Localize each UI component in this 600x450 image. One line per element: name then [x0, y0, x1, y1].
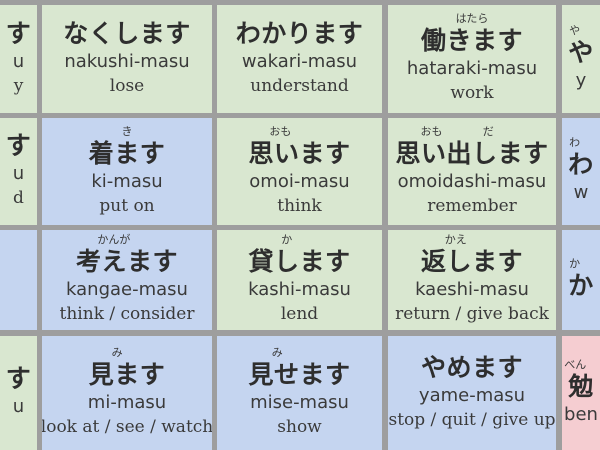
japanese-word: 貸します — [248, 247, 350, 277]
vocab-cell[interactable]: すu — [0, 336, 37, 450]
vocab-cell[interactable]: すuy — [0, 5, 37, 113]
japanese-word: 見せます — [248, 360, 350, 390]
japanese-word: 勉 — [568, 372, 594, 402]
furigana-row: み — [220, 345, 379, 360]
japanese-word: す — [6, 364, 32, 394]
english-meaning: put on — [99, 195, 154, 218]
japanese-word: 見ます — [89, 360, 166, 390]
romaji-reading: nakushi-masu — [64, 50, 189, 74]
furigana-reading: だ — [483, 124, 494, 139]
furigana-row: かんが — [45, 232, 209, 247]
vocab-cell[interactable]: すud — [0, 118, 37, 225]
furigana-reading: べん — [564, 357, 586, 372]
romaji-reading: mise-masu — [250, 391, 349, 415]
vocabulary-grid: すuyなくしますnakushi-masuloseわかりますwakari-masu… — [0, 0, 600, 450]
vocab-cell[interactable]: き着ますki-masuput on — [42, 118, 212, 225]
japanese-word: 着ます — [89, 139, 166, 169]
vocab-cell[interactable]: か貸しますkashi-masulend — [217, 230, 382, 330]
japanese-word: か — [568, 271, 594, 301]
english-meaning: stop / quit / give up — [388, 409, 555, 432]
furigana-reading: おも — [421, 124, 443, 139]
furigana-reading: わ — [569, 135, 580, 150]
english-meaning: look at / see / watch — [42, 416, 212, 439]
furigana-reading: き — [122, 124, 133, 139]
vocab-cell[interactable]: わかりますwakari-masuunderstand — [217, 5, 382, 113]
japanese-word: わかります — [236, 19, 364, 49]
furigana-reading: おも — [269, 124, 291, 139]
romaji-reading: kaeshi-masu — [415, 278, 529, 302]
english-meaning: d — [13, 187, 24, 210]
romaji-reading: mi-masu — [88, 391, 166, 415]
furigana-reading: か — [569, 256, 580, 271]
romaji-reading: u — [13, 162, 24, 186]
japanese-word: なくします — [63, 19, 191, 49]
romaji-reading: omoi-masu — [249, 170, 349, 194]
furigana-row: おもだ — [391, 124, 553, 139]
romaji-reading: wakari-masu — [242, 50, 357, 74]
furigana-reading: か — [281, 232, 292, 247]
vocab-cell[interactable]: ややy — [562, 5, 600, 113]
vocab-cell[interactable]: かか — [562, 230, 600, 330]
furigana-reading: かえ — [445, 232, 467, 247]
english-meaning: lose — [110, 75, 144, 98]
romaji-reading: ben — [564, 403, 598, 427]
furigana-row: かえ — [391, 232, 553, 247]
japanese-word: す — [6, 19, 32, 49]
english-meaning: lend — [281, 303, 318, 326]
romaji-reading: w — [574, 181, 589, 205]
english-meaning: remember — [427, 195, 517, 218]
furigana-row: べん — [565, 357, 597, 372]
vocab-cell[interactable] — [0, 230, 37, 330]
furigana-row: か — [220, 232, 379, 247]
japanese-word: 働きます — [421, 26, 523, 56]
english-meaning: think — [277, 195, 321, 218]
furigana-reading: み — [272, 345, 283, 360]
romaji-reading: y — [576, 69, 587, 93]
japanese-word: す — [6, 131, 32, 161]
japanese-word: 思います — [248, 139, 350, 169]
furigana-reading: かんが — [97, 232, 130, 247]
vocab-cell[interactable]: かんが考えますkangae-masuthink / consider — [42, 230, 212, 330]
romaji-reading: u — [13, 50, 24, 74]
english-meaning: think / consider — [60, 303, 195, 326]
furigana-row: や — [565, 23, 597, 38]
romaji-reading: omoidashi-masu — [398, 170, 547, 194]
furigana-row: か — [565, 256, 597, 271]
romaji-reading: ki-masu — [91, 170, 162, 194]
vocab-cell[interactable]: かえ返しますkaeshi-masureturn / give back — [388, 230, 556, 330]
furigana-row: み — [45, 345, 209, 360]
furigana-reading: や — [569, 23, 580, 38]
japanese-word: や — [568, 38, 594, 68]
furigana-row: おも — [220, 124, 379, 139]
romaji-reading: yame-masu — [419, 384, 525, 408]
english-meaning: work — [450, 82, 493, 105]
romaji-reading: kangae-masu — [66, 278, 188, 302]
japanese-word: 思い出します — [395, 139, 548, 169]
furigana-row: き — [45, 124, 209, 139]
english-meaning: y — [14, 75, 24, 98]
vocab-cell[interactable]: はたら働きますhataraki-masuwork — [388, 5, 556, 113]
vocab-cell[interactable]: おも思いますomoi-masuthink — [217, 118, 382, 225]
japanese-word: やめます — [421, 353, 523, 383]
furigana-row: はたら — [391, 11, 553, 26]
english-meaning: understand — [250, 75, 349, 98]
furigana-row: わ — [565, 135, 597, 150]
romaji-reading: hataraki-masu — [407, 57, 537, 81]
english-meaning: show — [277, 416, 321, 439]
vocab-cell[interactable]: なくしますnakushi-masulose — [42, 5, 212, 113]
furigana-reading: み — [112, 345, 123, 360]
furigana-reading: はたら — [456, 11, 489, 26]
vocab-cell[interactable]: わわw — [562, 118, 600, 225]
japanese-word: 考えます — [76, 247, 178, 277]
english-meaning: return / give back — [395, 303, 549, 326]
vocab-cell[interactable]: おもだ思い出しますomoidashi-masuremember — [388, 118, 556, 225]
romaji-reading: u — [13, 395, 24, 419]
japanese-word: わ — [568, 150, 594, 180]
japanese-word: 返します — [421, 247, 523, 277]
vocab-cell[interactable]: み見ますmi-masulook at / see / watch — [42, 336, 212, 450]
vocab-cell[interactable]: み見せますmise-masushow — [217, 336, 382, 450]
vocab-cell[interactable]: やめますyame-masustop / quit / give up — [388, 336, 556, 450]
romaji-reading: kashi-masu — [248, 278, 351, 302]
vocab-cell[interactable]: べん勉ben — [562, 336, 600, 450]
